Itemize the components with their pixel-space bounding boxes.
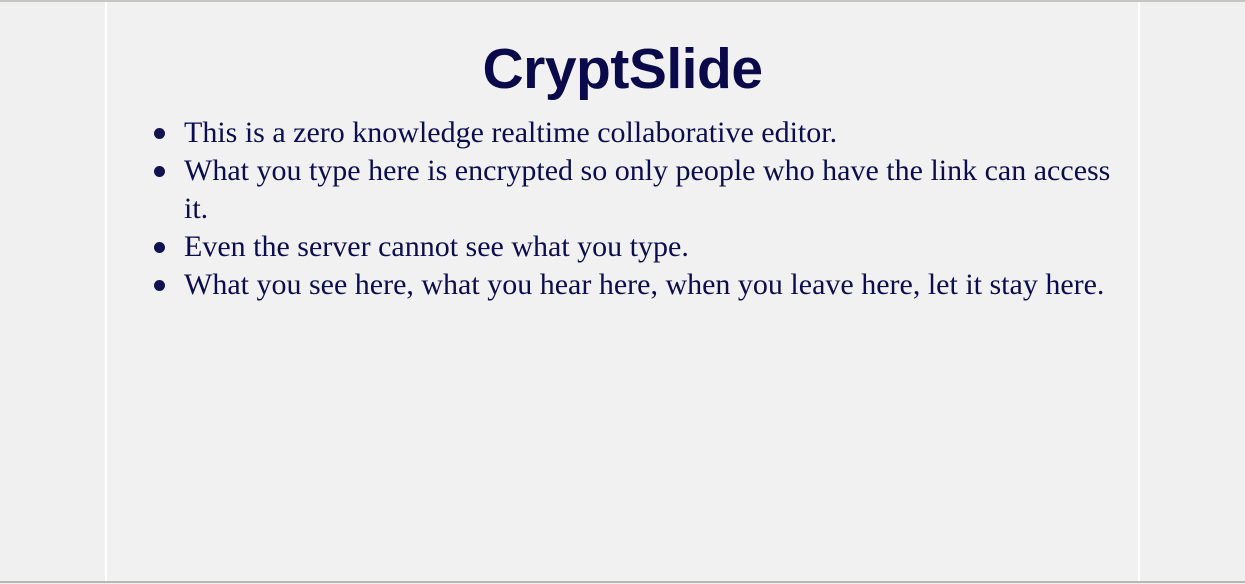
list-item-label: This is a zero knowledge realtime collab…: [184, 114, 1135, 152]
list-item[interactable]: What you see here, what you hear here, w…: [145, 266, 1135, 304]
slide-title[interactable]: CryptSlide: [107, 38, 1138, 100]
bullet-dot-icon: [154, 128, 165, 139]
bullet-dot-icon: [154, 242, 165, 253]
slide-viewer: CryptSlide This is a zero knowledge real…: [0, 0, 1245, 584]
slide-content-area[interactable]: CryptSlide This is a zero knowledge real…: [107, 2, 1138, 581]
bottom-divider-rule: [0, 581, 1245, 583]
list-item[interactable]: What you type here is encrypted so only …: [145, 152, 1135, 228]
list-item[interactable]: Even the server cannot see what you type…: [145, 228, 1135, 266]
slide-canvas[interactable]: CryptSlide This is a zero knowledge real…: [105, 2, 1140, 581]
list-item-label: What you see here, what you hear here, w…: [184, 266, 1135, 304]
list-item[interactable]: This is a zero knowledge realtime collab…: [145, 114, 1135, 152]
bullet-dot-icon: [154, 166, 165, 177]
list-item-label: What you type here is encrypted so only …: [184, 152, 1135, 228]
bullet-dot-icon: [154, 280, 165, 291]
slide-bullet-list[interactable]: This is a zero knowledge realtime collab…: [145, 114, 1135, 304]
list-item-label: Even the server cannot see what you type…: [184, 228, 1135, 266]
